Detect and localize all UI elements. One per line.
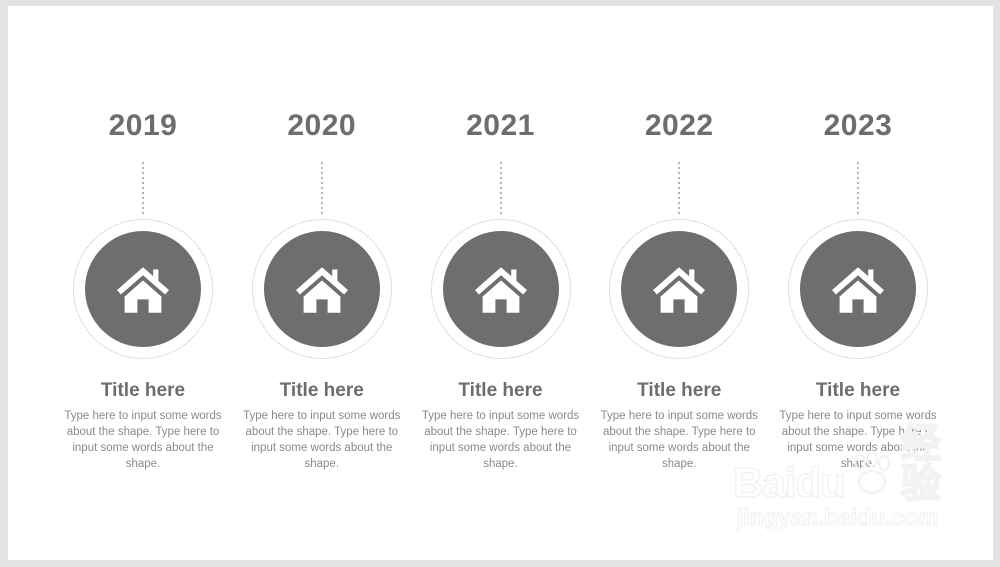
dotted-connector-line — [857, 162, 859, 214]
step-icon-badge[interactable] — [609, 219, 749, 359]
slide-canvas: 2019 Title here Type here to input some … — [8, 6, 993, 560]
dotted-connector-line — [678, 162, 680, 214]
step-year: 2023 — [824, 111, 893, 141]
step-description: Type here to input some words about the … — [63, 409, 223, 472]
step-description: Type here to input some words about the … — [242, 409, 402, 472]
timeline-step[interactable]: 2021 Title here Type here to input some … — [421, 6, 581, 472]
home-icon — [115, 263, 171, 315]
step-description: Type here to input some words about the … — [599, 409, 759, 472]
step-title: Title here — [458, 381, 542, 400]
icon-circle[interactable] — [264, 231, 380, 347]
step-icon-badge[interactable] — [788, 219, 928, 359]
dotted-connector-line — [500, 162, 502, 214]
watermark-url: jingyan.baidu.com — [737, 506, 939, 529]
step-title: Title here — [280, 381, 364, 400]
step-year: 2022 — [645, 111, 714, 141]
timeline-step[interactable]: 2019 Title here Type here to input some … — [63, 6, 223, 472]
step-icon-badge[interactable] — [252, 219, 392, 359]
step-icon-badge[interactable] — [431, 219, 571, 359]
timeline-step[interactable]: 2020 Title here Type here to input some … — [242, 6, 402, 472]
dotted-connector-line — [142, 162, 144, 214]
step-icon-badge[interactable] — [73, 219, 213, 359]
icon-circle[interactable] — [85, 231, 201, 347]
home-icon — [651, 263, 707, 315]
step-description: Type here to input some words about the … — [421, 409, 581, 472]
timeline-step[interactable]: 2022 Title here Type here to input some … — [599, 6, 759, 472]
home-icon — [830, 263, 886, 315]
timeline-infographic: 2019 Title here Type here to input some … — [8, 6, 993, 456]
step-title: Title here — [101, 381, 185, 400]
icon-circle[interactable] — [443, 231, 559, 347]
step-year: 2019 — [109, 111, 178, 141]
step-title: Title here — [637, 381, 721, 400]
icon-circle[interactable] — [800, 231, 916, 347]
dotted-connector-line — [321, 162, 323, 214]
timeline-step[interactable]: 2023 Title here Type here to input some … — [778, 6, 938, 472]
step-description: Type here to input some words about the … — [778, 409, 938, 472]
step-title: Title here — [816, 381, 900, 400]
home-icon — [294, 263, 350, 315]
step-year: 2020 — [287, 111, 356, 141]
icon-circle[interactable] — [621, 231, 737, 347]
step-year: 2021 — [466, 111, 535, 141]
home-icon — [473, 263, 529, 315]
